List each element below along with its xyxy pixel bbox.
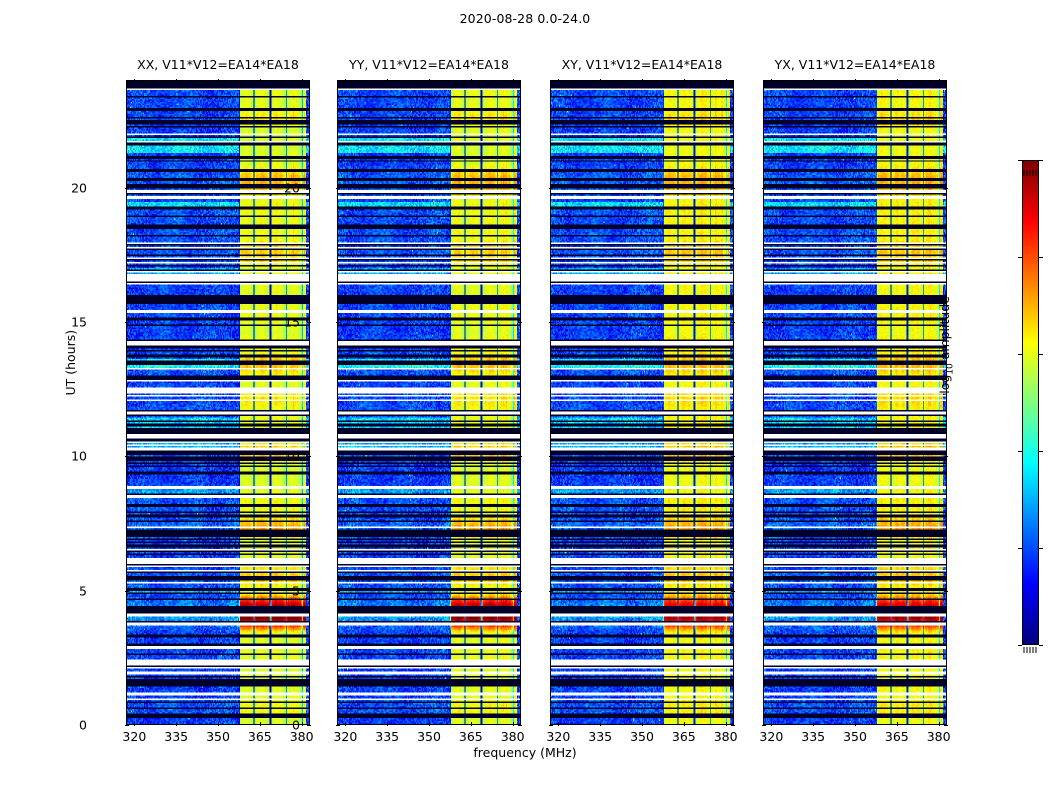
y-tick-mark-right	[518, 591, 522, 592]
x-tick-mark	[429, 722, 430, 726]
colorbar-tick-mark	[1039, 257, 1043, 258]
x-tick-mark-top	[726, 79, 727, 83]
colorbar-tick-mark	[1039, 160, 1043, 161]
x-tick-mark	[345, 722, 346, 726]
x-tick-mark-top	[387, 79, 388, 83]
y-tick-mark-right	[307, 725, 311, 726]
x-tick-label: 335	[164, 729, 188, 744]
x-tick-mark	[513, 722, 514, 726]
y-tick-label: 20	[284, 180, 300, 195]
y-tick-label: 0	[292, 718, 300, 733]
x-tick-label: 320	[759, 729, 783, 744]
y-tick-mark-right	[731, 591, 735, 592]
y-tick-mark-right	[307, 591, 311, 592]
y-tick-label: 0	[79, 718, 87, 733]
colorbar-tick-mark-inner	[1018, 451, 1022, 452]
subplot-xx: XX, V11*V12=EA14*EA183203353503653800510…	[126, 80, 310, 725]
x-tick-mark-top	[429, 79, 430, 83]
x-tick-label: 380	[927, 729, 951, 744]
x-tick-label: 380	[501, 729, 525, 744]
x-tick-mark	[387, 722, 388, 726]
y-tick-mark	[762, 456, 766, 457]
y-tick-mark	[549, 591, 553, 592]
y-tick-mark-right	[518, 725, 522, 726]
y-tick-mark	[762, 188, 766, 189]
x-tick-label: 350	[417, 729, 441, 744]
y-tick-mark-right	[944, 725, 948, 726]
x-tick-mark	[726, 722, 727, 726]
y-tick-mark	[549, 188, 553, 189]
y-tick-label: 15	[71, 314, 87, 329]
x-tick-mark-top	[471, 79, 472, 83]
x-tick-label: 350	[630, 729, 654, 744]
x-tick-mark	[600, 722, 601, 726]
y-tick-mark-right	[518, 188, 522, 189]
colorbar-tick-mark-inner	[1018, 160, 1022, 161]
colorbar-tick-mark	[1039, 548, 1043, 549]
subplot-title-yx: YX, V11*V12=EA14*EA18	[775, 57, 936, 72]
x-tick-mark	[897, 722, 898, 726]
colorbar[interactable]	[1022, 160, 1039, 645]
y-tick-mark	[336, 725, 340, 726]
y-tick-mark	[549, 725, 553, 726]
y-tick-mark	[336, 456, 340, 457]
subplot-yy: YY, V11*V12=EA14*EA183203353503653800510…	[337, 80, 521, 725]
y-tick-label: 5	[79, 583, 87, 598]
x-tick-label: 365	[672, 729, 696, 744]
y-tick-mark	[336, 591, 340, 592]
x-tick-mark	[939, 722, 940, 726]
colorbar-tick-mark-inner	[1018, 548, 1022, 549]
subplot-yx: YX, V11*V12=EA14*EA183203353503653800510…	[763, 80, 947, 725]
x-tick-mark-top	[558, 79, 559, 83]
x-tick-mark-top	[218, 79, 219, 83]
y-tick-mark	[336, 322, 340, 323]
y-tick-mark-right	[731, 725, 735, 726]
y-tick-mark-right	[944, 456, 948, 457]
subplot-title-xy: XY, V11*V12=EA14*EA18	[562, 57, 723, 72]
x-tick-mark-top	[684, 79, 685, 83]
x-tick-label: 380	[714, 729, 738, 744]
x-tick-mark	[771, 722, 772, 726]
heatmap-yx[interactable]	[763, 80, 947, 725]
x-tick-label: 350	[206, 729, 230, 744]
x-tick-mark-top	[813, 79, 814, 83]
x-tick-mark	[558, 722, 559, 726]
x-tick-label: 365	[885, 729, 909, 744]
x-tick-label: 335	[375, 729, 399, 744]
x-tick-mark-top	[600, 79, 601, 83]
x-tick-label: 365	[248, 729, 272, 744]
y-tick-mark	[336, 188, 340, 189]
heatmap-xx[interactable]	[126, 80, 310, 725]
y-tick-mark-right	[518, 456, 522, 457]
subplot-xy: XY, V11*V12=EA14*EA183203353503653800510…	[550, 80, 734, 725]
x-tick-mark	[134, 722, 135, 726]
x-tick-label: 320	[333, 729, 357, 744]
x-tick-mark	[218, 722, 219, 726]
subplot-title-xx: XX, V11*V12=EA14*EA18	[137, 57, 299, 72]
x-tick-mark	[302, 722, 303, 726]
colorbar-tick-mark	[1039, 451, 1043, 452]
x-tick-mark	[260, 722, 261, 726]
y-tick-mark	[125, 725, 129, 726]
x-tick-mark	[642, 722, 643, 726]
x-tick-mark-top	[176, 79, 177, 83]
colorbar-tick-mark	[1039, 354, 1043, 355]
y-tick-mark-right	[307, 322, 311, 323]
y-tick-mark-right	[731, 322, 735, 323]
y-tick-label: 10	[284, 449, 300, 464]
heatmap-xy[interactable]	[550, 80, 734, 725]
figure-suptitle: 2020-08-28 0.0-24.0	[0, 11, 1050, 26]
colorbar-tick-mark-inner	[1018, 354, 1022, 355]
y-tick-mark-right	[518, 322, 522, 323]
x-tick-mark	[471, 722, 472, 726]
y-tick-mark	[125, 322, 129, 323]
x-tick-mark-top	[855, 79, 856, 83]
x-tick-label: 320	[546, 729, 570, 744]
y-tick-label: 15	[284, 314, 300, 329]
x-tick-mark	[176, 722, 177, 726]
x-tick-mark-top	[897, 79, 898, 83]
y-tick-mark-right	[731, 188, 735, 189]
x-tick-label: 320	[122, 729, 146, 744]
y-tick-mark-right	[731, 456, 735, 457]
y-tick-mark-right	[307, 188, 311, 189]
x-tick-mark-top	[345, 79, 346, 83]
x-tick-label: 335	[588, 729, 612, 744]
y-tick-mark	[762, 591, 766, 592]
y-tick-mark	[549, 322, 553, 323]
x-tick-mark-top	[771, 79, 772, 83]
y-tick-mark	[125, 591, 129, 592]
subplot-title-yy: YY, V11*V12=EA14*EA18	[349, 57, 509, 72]
y-tick-mark	[125, 456, 129, 457]
heatmap-yy[interactable]	[337, 80, 521, 725]
x-tick-mark	[813, 722, 814, 726]
x-tick-mark-top	[134, 79, 135, 83]
y-tick-mark	[549, 456, 553, 457]
y-tick-mark-right	[944, 188, 948, 189]
figure-canvas: 2020-08-28 0.0-24.0 UT (hours) frequency…	[0, 0, 1050, 800]
y-tick-mark	[762, 322, 766, 323]
x-tick-label: 335	[801, 729, 825, 744]
y-tick-mark-right	[944, 591, 948, 592]
x-axis-label: frequency (MHz)	[0, 745, 1050, 760]
x-tick-mark	[684, 722, 685, 726]
y-tick-mark	[762, 725, 766, 726]
colorbar-label-text: log10 amplitude	[937, 296, 952, 394]
y-tick-mark-right	[307, 456, 311, 457]
y-tick-label: 20	[71, 180, 87, 195]
y-axis-label: UT (hours)	[63, 329, 78, 395]
colorbar-tick-mark	[1039, 645, 1043, 646]
x-tick-mark-top	[642, 79, 643, 83]
y-tick-mark	[125, 188, 129, 189]
colorbar-label: log10 amplitude	[937, 296, 956, 394]
y-tick-label: 10	[71, 449, 87, 464]
x-tick-mark-top	[513, 79, 514, 83]
x-tick-label: 350	[843, 729, 867, 744]
x-tick-mark	[855, 722, 856, 726]
colorbar-tick-mark-inner	[1018, 257, 1022, 258]
x-tick-label: 365	[459, 729, 483, 744]
x-tick-mark-top	[260, 79, 261, 83]
x-tick-mark-top	[302, 79, 303, 83]
colorbar-tick-mark-inner	[1018, 645, 1022, 646]
y-tick-label: 5	[292, 583, 300, 598]
x-tick-mark-top	[939, 79, 940, 83]
